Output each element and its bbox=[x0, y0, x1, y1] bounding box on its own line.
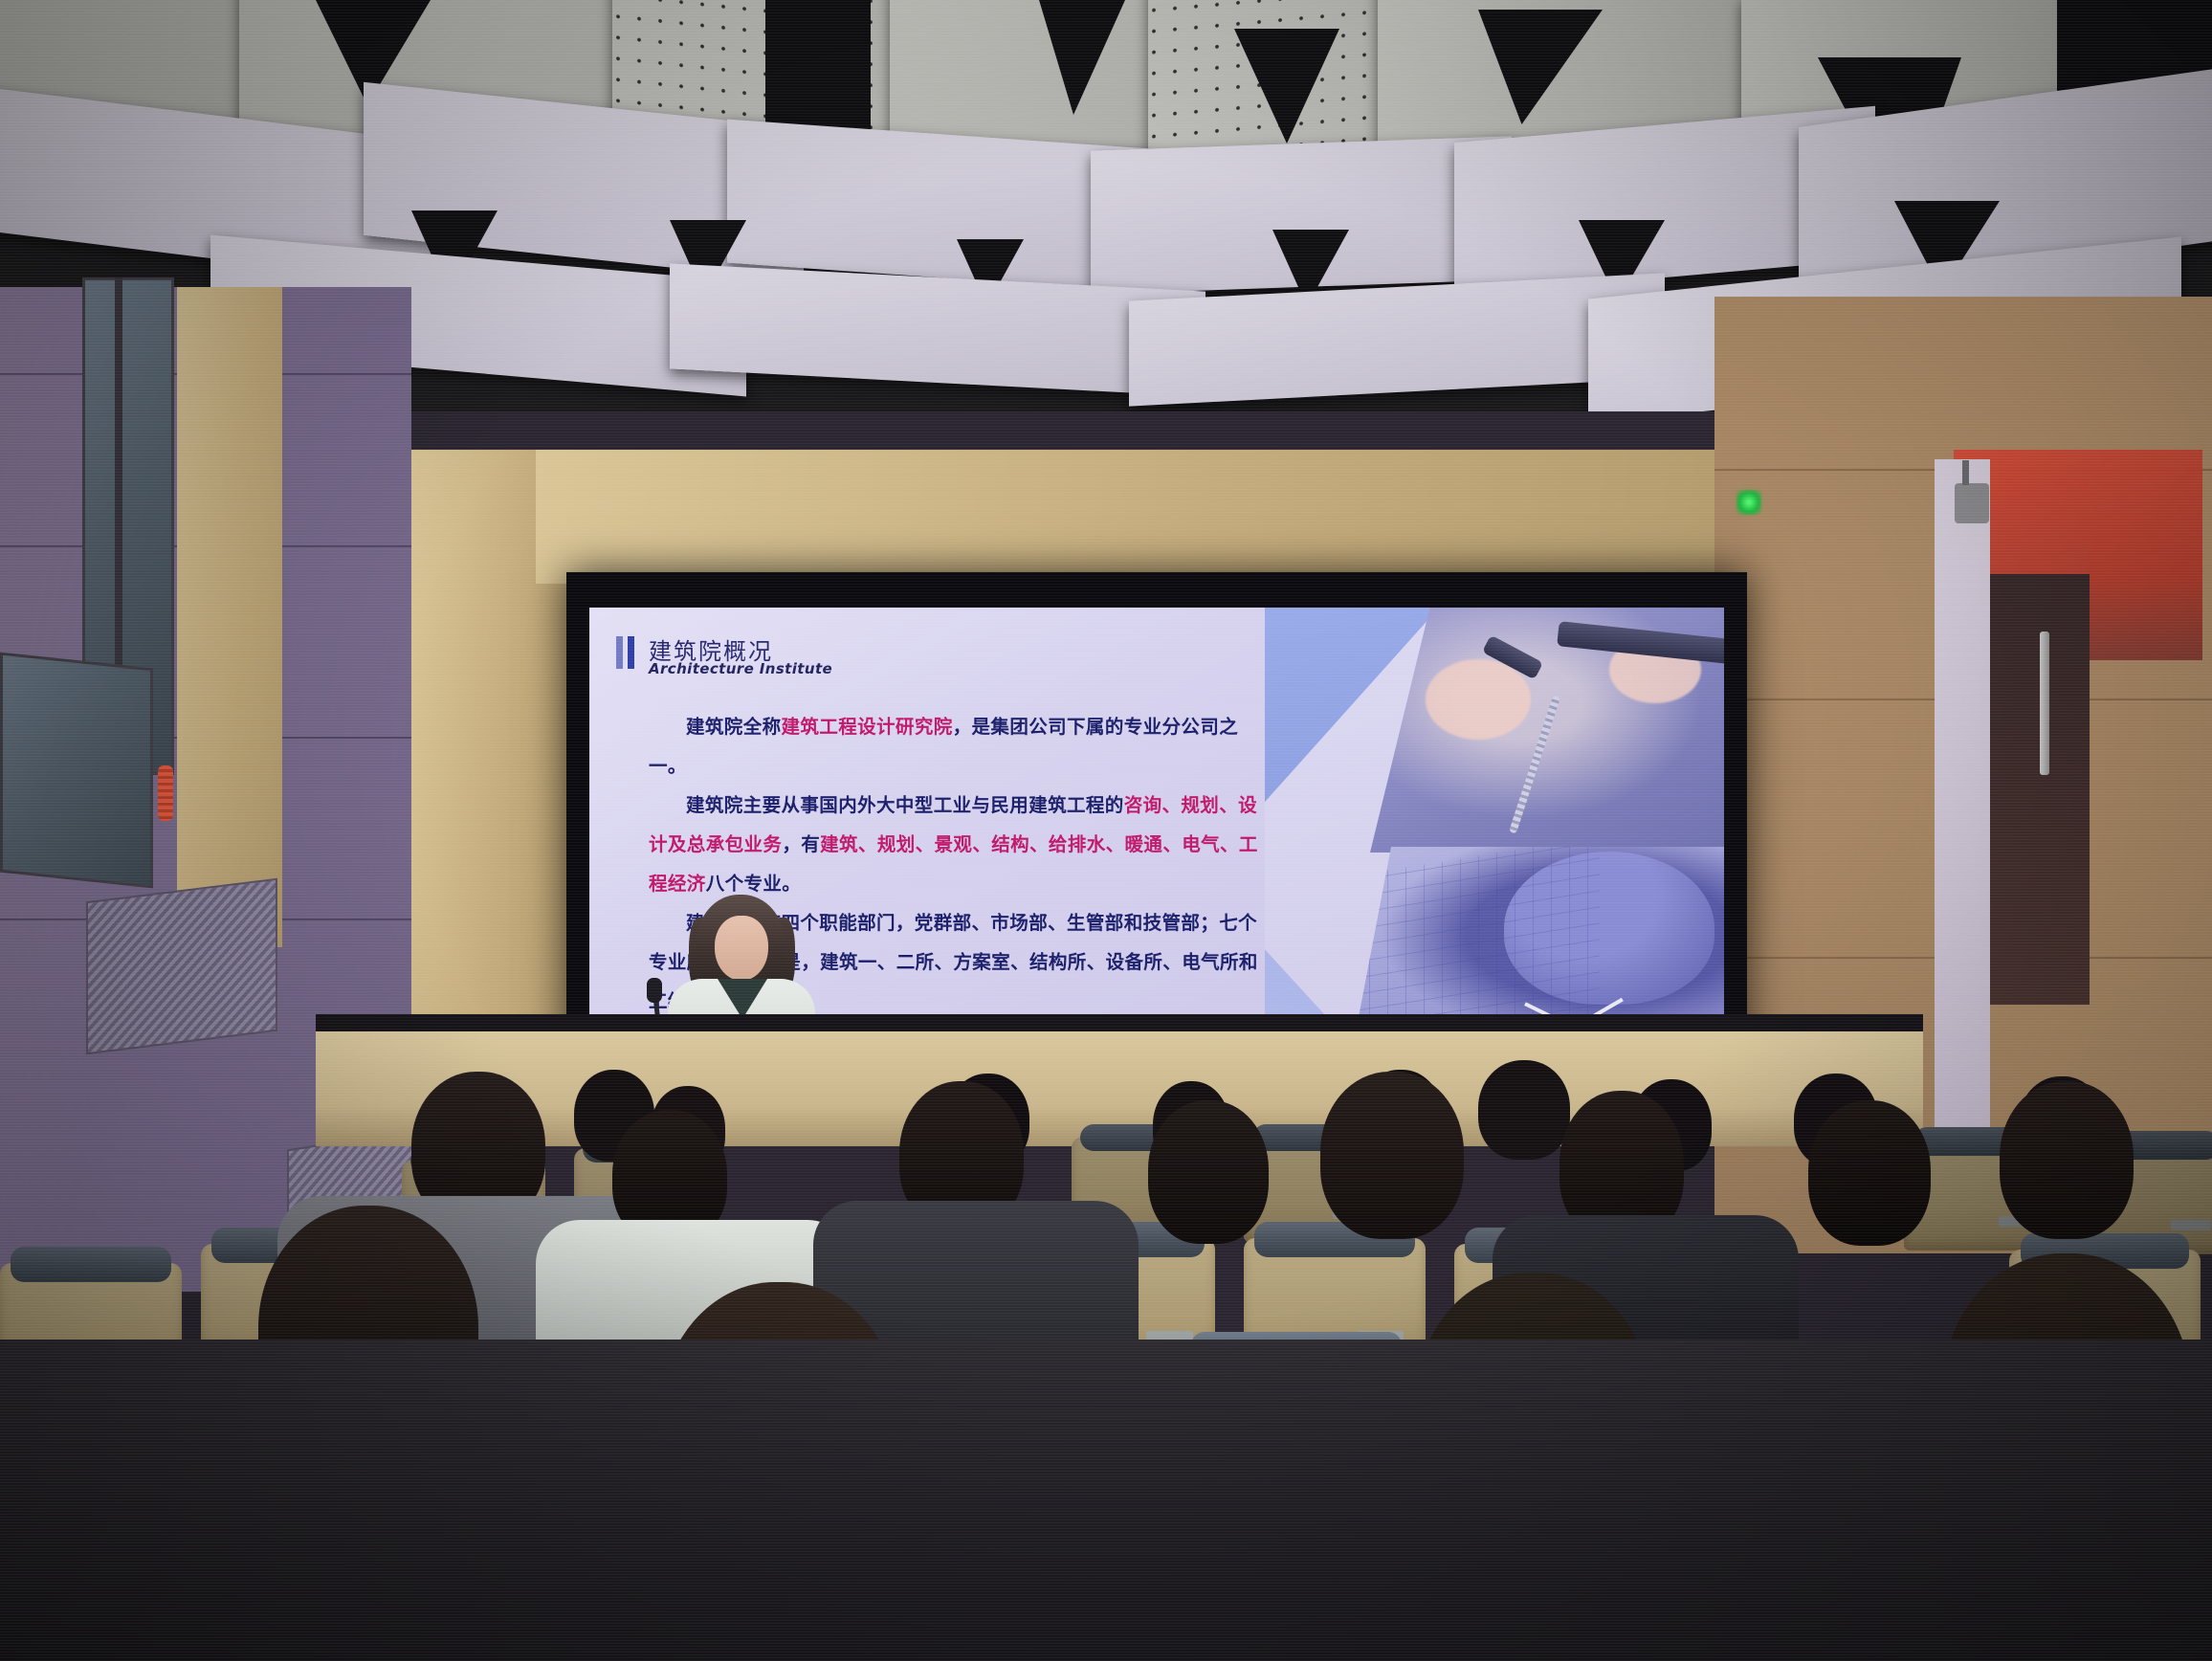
fire-equipment-icon bbox=[158, 765, 173, 821]
lecture-hall-scene: 建筑院概况 Architecture Institute 建筑院全称建筑工程设计… bbox=[0, 0, 2212, 1661]
stage-wall-top bbox=[536, 450, 1770, 584]
white-column-right bbox=[1935, 459, 1990, 1129]
window-left-lower bbox=[0, 653, 153, 889]
slide-artwork bbox=[1265, 608, 1724, 1057]
slide-paragraph-1: 建筑院全称建筑工程设计研究院，是集团公司下属的专业分公司之一。 bbox=[649, 708, 1261, 786]
microphone-icon bbox=[647, 978, 662, 1003]
slide-title-english: Architecture Institute bbox=[649, 660, 832, 677]
slide-title-accent-bars bbox=[616, 636, 634, 669]
door-handle[interactable] bbox=[2040, 631, 2049, 775]
wood-column-left bbox=[177, 287, 282, 947]
audience-head bbox=[1808, 1100, 1931, 1246]
audience-head bbox=[1320, 1072, 1464, 1239]
slide-paragraph-2: 建筑院主要从事国内外大中型工业与民用建筑工程的咨询、规划、设计及总承包业务，有建… bbox=[649, 786, 1261, 904]
audience-head bbox=[2000, 1081, 2134, 1239]
air-vent-left bbox=[86, 878, 277, 1055]
audience-head bbox=[1478, 1060, 1570, 1160]
photo-surveyor-hands bbox=[1370, 608, 1724, 853]
exit-light-icon bbox=[1736, 490, 1761, 515]
camera-icon bbox=[1955, 483, 1989, 523]
audience-head bbox=[1148, 1100, 1269, 1244]
floor bbox=[0, 1340, 2212, 1661]
